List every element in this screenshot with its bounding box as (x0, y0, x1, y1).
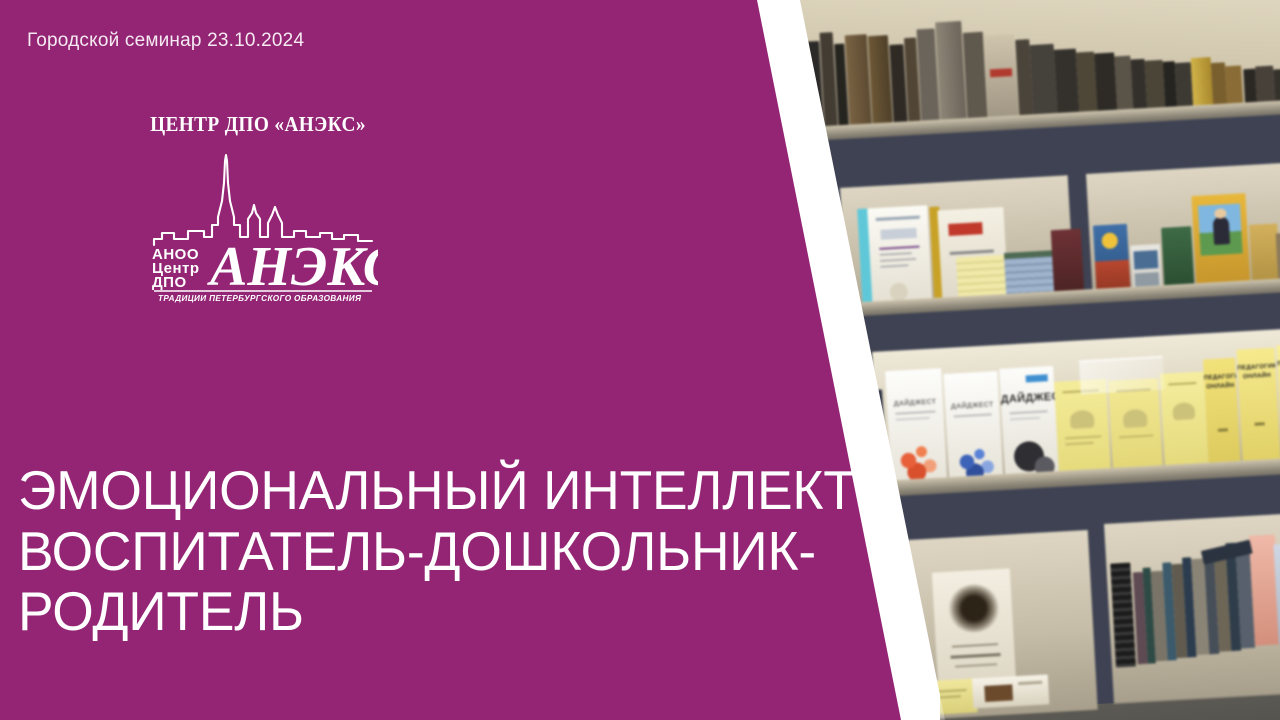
display-book (932, 568, 1017, 692)
seminar-date-label: Городской семинар 23.10.2024 (27, 30, 304, 52)
presentation-slide: ДАЙДЖЕСТ ДАЙДЖЕСТ ДАЙДЖЕСТ (0, 0, 1280, 720)
page-title: ЭМОЦИОНАЛЬНЫЙ ИНТЕЛЛЕКТ: ВОСПИТАТЕЛЬ-ДОШ… (18, 460, 823, 642)
book-cover-pedagogy: ПЕДАГОГИКА ОНЛАЙН (1236, 348, 1280, 468)
book-title: ОНЛАЙН (1204, 383, 1236, 391)
diploma-certificate (867, 205, 933, 310)
acrylic-stand (1079, 356, 1165, 395)
book-cover-pedagogy: ПЕДАГОГИКА ОНЛАЙН (1203, 358, 1241, 472)
logo-tagline: ТРАДИЦИИ ПЕТЕРБУРГСКОГО ОБРАЗОВАНИЯ (158, 294, 362, 303)
booklet-yellow (1160, 372, 1210, 478)
journal-title: ДАЙДЖЕСТ (1001, 392, 1056, 407)
book-title: ОНЛАЙН (1238, 372, 1276, 380)
book-title: ПЕДАГОГИКА (1237, 364, 1275, 372)
open-book (972, 674, 1050, 708)
book-title: ПЕДАГОГИКА (1204, 374, 1236, 382)
anex-logo: АНОО Центр ДПО АНЭКС ТРАДИЦИИ ПЕТЕРБУРГС… (148, 153, 378, 303)
title-line-3: РОДИТЕЛЬ (18, 581, 823, 642)
logo-wordmark: АНЭКС (207, 236, 378, 298)
journal-cover-digest: ДАЙДЖЕСТ (999, 366, 1059, 483)
title-line-1: ЭМОЦИОНАЛЬНЫЙ ИНТЕЛЛЕКТ: (18, 460, 823, 521)
journal-title: ДАЙДЖЕСТ (945, 401, 999, 411)
logo-block: ЦЕНТР ДПО «АНЭКС» АНОО Центр ДПО АНЭКС Т… (0, 112, 740, 303)
journal-title: ДАЙДЖЕСТ (887, 398, 943, 408)
journal-cover-digest: ДАЙДЖЕСТ (943, 371, 1003, 486)
organization-name: ЦЕНТР ДПО «АНЭКС» (65, 112, 451, 137)
logo-line-dpo: ДПО (152, 274, 187, 291)
title-line-2: ВОСПИТАТЕЛЬ-ДОШКОЛЬНИК- (18, 521, 823, 582)
book-cover (984, 34, 1019, 128)
